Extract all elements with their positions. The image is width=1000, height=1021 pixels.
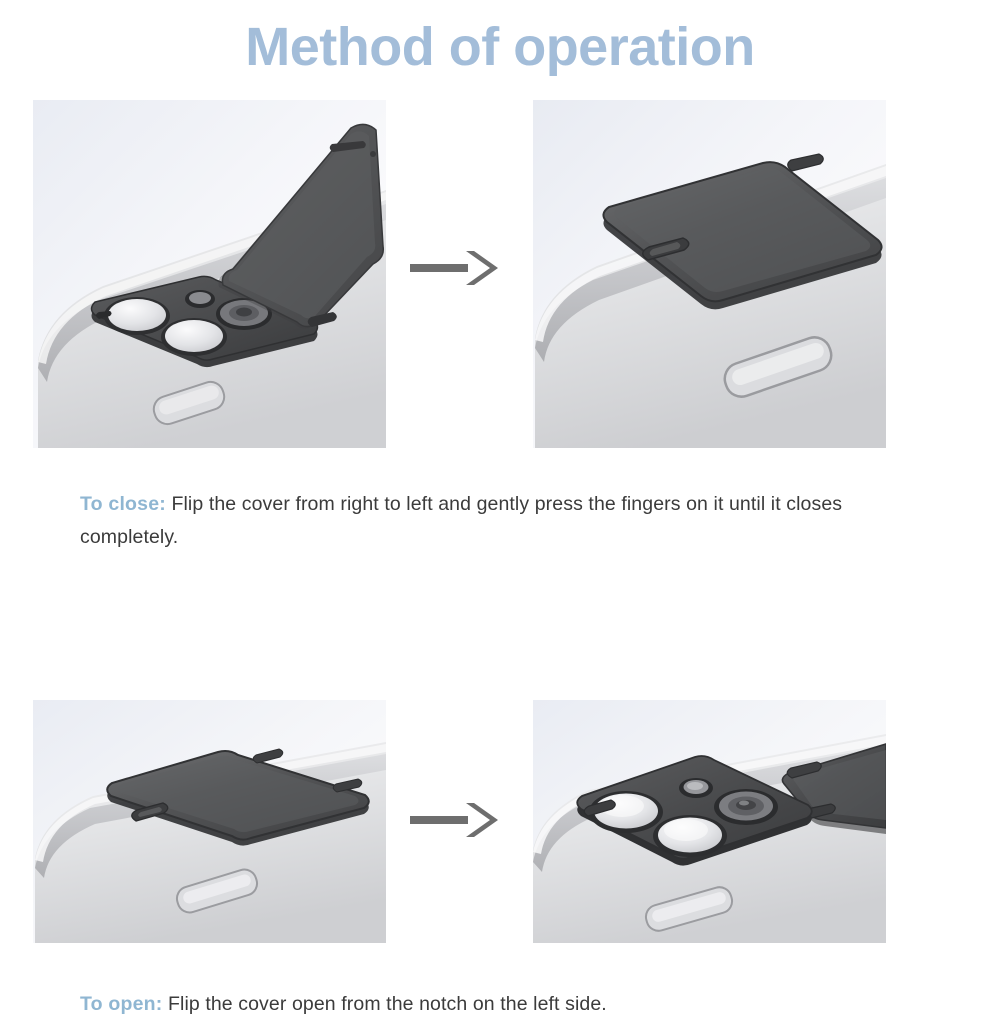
illustration-cover-closed-small bbox=[33, 700, 386, 943]
step-close-panels bbox=[0, 100, 1000, 450]
arrow-right-icon-open bbox=[408, 800, 504, 840]
step-open-panels bbox=[0, 700, 1000, 948]
panel-phone-cover-closed bbox=[533, 100, 886, 448]
caption-open-lead: To open: bbox=[80, 993, 162, 1015]
step-open: To open: Flip the cover open from the no… bbox=[0, 700, 1000, 948]
panel-phone-cover-flipped-right bbox=[533, 700, 886, 943]
panel-phone-cover-closed-small bbox=[33, 700, 386, 943]
caption-open-body: Flip the cover open from the notch on th… bbox=[168, 993, 607, 1015]
page-title: Method of operation bbox=[0, 0, 1000, 88]
illustration-cover-closed-large bbox=[533, 100, 886, 448]
caption-close-lead: To close: bbox=[80, 493, 166, 515]
panel-phone-cover-open-upright bbox=[33, 100, 386, 448]
arrow-right-icon-close bbox=[408, 248, 504, 288]
illustration-cover-open-upright bbox=[33, 100, 386, 448]
illustration-cover-flipped-right bbox=[533, 700, 886, 943]
step-close: To close: Flip the cover from right to l… bbox=[0, 100, 1000, 450]
caption-close-body: Flip the cover from right to left and ge… bbox=[80, 493, 842, 548]
caption-open: To open: Flip the cover open from the no… bbox=[80, 988, 925, 1021]
caption-close: To close: Flip the cover from right to l… bbox=[80, 488, 925, 554]
